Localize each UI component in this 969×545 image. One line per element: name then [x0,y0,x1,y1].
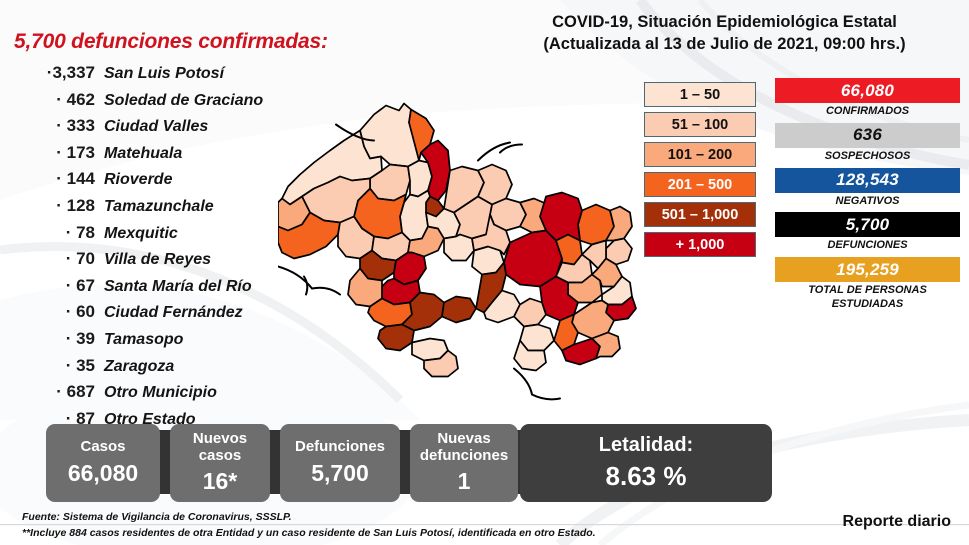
stat-card: 128,543NEGATIVOS [775,168,960,209]
deaths-heading: 5,700 defunciones confirmadas: [14,30,330,54]
stat-label: NEGATIVOS [775,193,960,209]
summary-panel[interactable]: Defunciones5,700 [280,424,400,502]
municipality-row: · 60Ciudad Fernández [0,302,330,329]
summary-panel-value: 8.63 % [606,461,687,492]
municipality-row: · 70Villa de Reyes [0,249,330,276]
map-municipality[interactable] [444,235,474,261]
summary-panel[interactable]: Nuevas defunciones1 [410,424,518,502]
municipality-row: · 128Tamazunchale [0,196,330,223]
municipality-row: · 462Soledad de Graciano [0,90,330,117]
footer-note: **Incluye 884 casos residentes de otra E… [22,525,596,541]
deaths-by-municipality-panel: 5,700 defunciones confirmadas: ·3,337San… [0,30,330,435]
summary-panel-label: Defunciones [295,439,385,456]
stat-card: 195,259TOTAL DE PERSONAS ESTUDIADAS [775,257,960,312]
map-boundary-line [532,395,560,400]
municipality-name: Tamasopo [104,331,183,349]
municipality-count: ·3,337 [0,63,104,83]
municipality-name: Villa de Reyes [104,251,211,269]
municipality-row: · 78Mexquitic [0,223,330,250]
stat-value: 5,700 [775,212,960,237]
municipality-count: · 462 [0,90,104,110]
municipality-count: · 128 [0,196,104,216]
municipality-name: Ciudad Valles [104,118,208,136]
municipality-name: San Luis Potosí [104,65,224,83]
municipality-count: · 173 [0,143,104,163]
stat-value: 636 [775,123,960,148]
stat-card: 66,080CONFIRMADOS [775,78,960,119]
municipality-name: Mexquitic [104,225,178,243]
summary-panel-value: 16* [203,468,238,495]
municipality-count: · 78 [0,223,104,243]
municipality-count: · 35 [0,356,104,376]
legend-band[interactable]: 101 – 200 [644,142,756,167]
map-boundary-line [478,143,510,161]
map-legend: 1 – 5051 – 100101 – 200201 – 500501 – 1,… [644,82,756,262]
municipality-list: ·3,337San Luis Potosí· 462Soledad de Gra… [0,63,330,435]
summary-panel-label: Nuevos casos [170,431,270,465]
summary-panel-label: Casos [80,439,125,456]
municipality-row: · 333Ciudad Valles [0,116,330,143]
municipality-row: · 39Tamasopo [0,329,330,356]
stat-value: 66,080 [775,78,960,103]
municipality-count: · 67 [0,276,104,296]
municipality-row: · 35Zaragoza [0,356,330,383]
page-title: COVID-19, Situación Epidemiológica Estat… [480,12,969,56]
stat-value: 128,543 [775,168,960,193]
stat-label: TOTAL DE PERSONAS ESTUDIADAS [775,282,960,312]
municipality-count: · 144 [0,169,104,189]
stat-label: CONFIRMADOS [775,103,960,119]
stat-card: 636SOSPECHOSOS [775,123,960,164]
municipality-row: · 687Otro Municipio [0,382,330,409]
summary-bar: Casos66,080Nuevos casos16*Defunciones5,7… [46,424,772,502]
summary-panel[interactable]: Letalidad:8.63 % [520,424,772,502]
municipality-name: Zaragoza [104,358,174,376]
summary-panel-value: 1 [458,468,471,495]
summary-panel-value: 66,080 [68,460,138,487]
map-boundary-line [514,369,532,395]
legend-band[interactable]: 201 – 500 [644,172,756,197]
municipality-name: Otro Municipio [104,384,217,402]
municipality-name: Tamazunchale [104,198,214,216]
legend-band[interactable]: 51 – 100 [644,112,756,137]
footer-notes: Fuente: Sistema de Vigilancia de Coronav… [22,509,596,542]
municipality-name: Rioverde [104,171,172,189]
municipality-row: ·3,337San Luis Potosí [0,63,330,90]
legend-band[interactable]: + 1,000 [644,232,756,257]
title-line-1: COVID-19, Situación Epidemiológica Estat… [480,12,969,34]
statistics-cards: 66,080CONFIRMADOS636SOSPECHOSOS128,543NE… [775,78,960,316]
municipality-count: · 70 [0,249,104,269]
municipality-row: · 144Rioverde [0,169,330,196]
municipality-name: Ciudad Fernández [104,304,243,322]
map-boundary-line [500,145,522,153]
municipality-name: Soledad de Graciano [104,92,263,110]
municipality-count: · 687 [0,382,104,402]
municipality-row: · 67Santa María del Río [0,276,330,303]
footer-source: Fuente: Sistema de Vigilancia de Coronav… [22,509,596,525]
summary-panel[interactable]: Nuevos casos16* [170,424,270,502]
san-luis-potosi-map[interactable] [278,78,638,423]
municipality-name: Matehuala [104,145,182,163]
title-line-2: (Actualizada al 13 de Julio de 2021, 09:… [480,34,969,56]
map-region-group [278,104,636,377]
stat-card: 5,700DEFUNCIONES [775,212,960,253]
stat-value: 195,259 [775,257,960,282]
summary-panel-value: 5,700 [311,460,369,487]
summary-panel-label: Nuevas defunciones [410,431,518,465]
municipality-count: · 39 [0,329,104,349]
stat-label: DEFUNCIONES [775,237,960,253]
municipality-row: · 173Matehuala [0,143,330,170]
stat-label: SOSPECHOSOS [775,148,960,164]
municipality-name: Santa María del Río [104,278,252,296]
map-municipality[interactable] [442,297,476,323]
municipality-count: · 60 [0,302,104,322]
municipality-count: · 333 [0,116,104,136]
map-municipality[interactable] [378,325,414,351]
legend-band[interactable]: 1 – 50 [644,82,756,107]
legend-band[interactable]: 501 – 1,000 [644,202,756,227]
report-label: Reporte diario [843,513,951,531]
summary-panel-label: Letalidad: [599,434,693,456]
summary-panel[interactable]: Casos66,080 [46,424,160,502]
